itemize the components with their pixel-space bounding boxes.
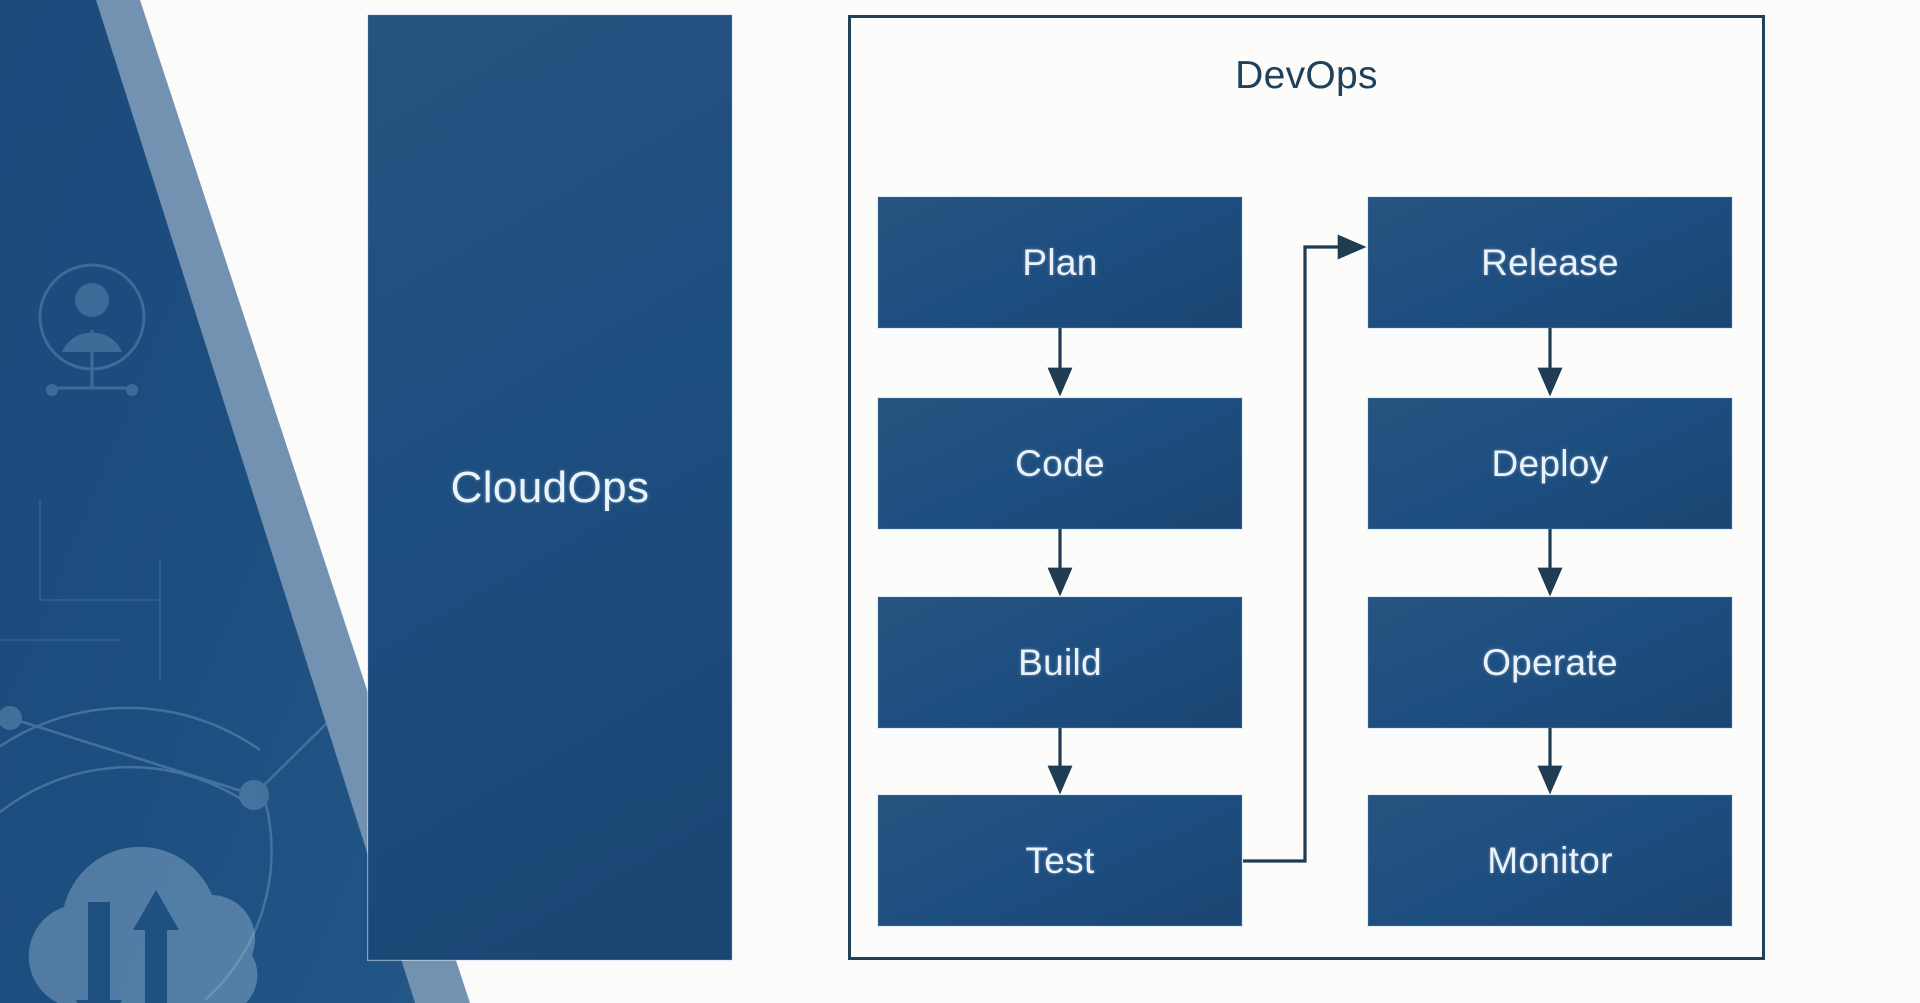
wedge-main (0, 0, 415, 1003)
cloudops-label: CloudOps (451, 463, 650, 513)
stage-label-test: Test (1025, 840, 1094, 882)
stage-label-deploy: Deploy (1492, 443, 1609, 485)
stage-label-code: Code (1015, 443, 1105, 485)
network-node-icon (0, 706, 330, 1000)
stage-box-test[interactable]: Test (878, 795, 1242, 926)
stage-label-plan: Plan (1022, 242, 1097, 284)
stage-box-operate[interactable]: Operate (1368, 597, 1732, 728)
circuit-grid-icon (0, 500, 160, 680)
cloudops-panel[interactable]: CloudOps (368, 15, 732, 960)
stage-label-release: Release (1481, 242, 1619, 284)
down-arrow-glyph (76, 902, 122, 1003)
stage-label-build: Build (1018, 642, 1102, 684)
stage-box-monitor[interactable]: Monitor (1368, 795, 1732, 926)
stage-box-deploy[interactable]: Deploy (1368, 398, 1732, 529)
devops-title: DevOps (851, 54, 1762, 98)
stage-box-plan[interactable]: Plan (878, 197, 1242, 328)
stage-label-operate: Operate (1482, 642, 1618, 684)
stage-box-code[interactable]: Code (878, 398, 1242, 529)
up-arrow-glyph (133, 890, 179, 1003)
stage-box-build[interactable]: Build (878, 597, 1242, 728)
slide-canvas: CloudOps DevOps Plan Code Build Test Rel… (0, 0, 1920, 1003)
user-avatar-icon (40, 265, 144, 396)
stage-box-release[interactable]: Release (1368, 197, 1732, 328)
stage-label-monitor: Monitor (1487, 840, 1612, 882)
cloud-sync-icon (29, 847, 258, 1003)
